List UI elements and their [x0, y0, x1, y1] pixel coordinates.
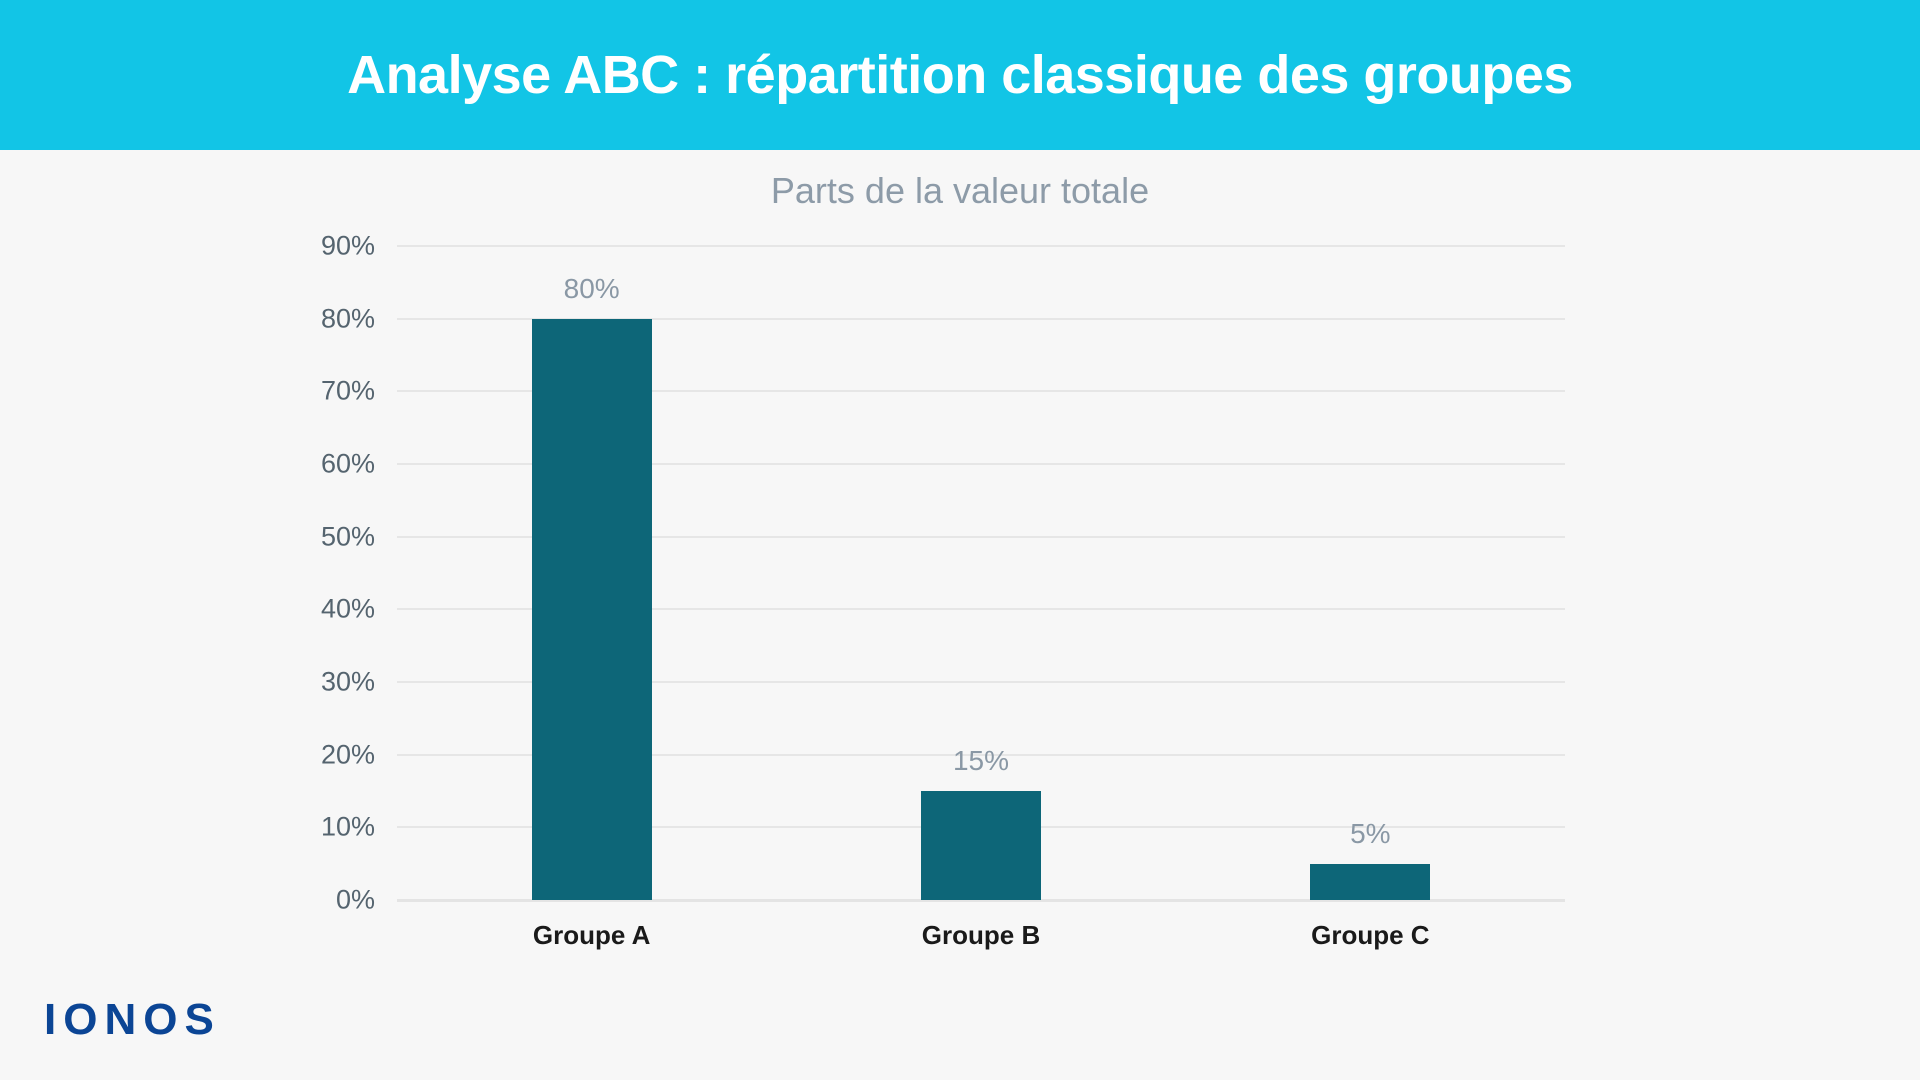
y-axis-tick-label: 10% — [321, 812, 375, 843]
page-title: Analyse ABC : répartition classique des … — [347, 44, 1573, 106]
bar-value-label: 5% — [1350, 818, 1390, 850]
bar-groupe-c[interactable] — [1310, 864, 1430, 900]
bar-groupe-a[interactable] — [532, 319, 652, 900]
plot-area: 80%15%5% — [397, 246, 1565, 900]
bar-value-label: 80% — [564, 273, 620, 305]
y-axis-tick-label: 90% — [321, 231, 375, 262]
ionos-logo: IONOS — [44, 995, 221, 1045]
header-band: Analyse ABC : répartition classique des … — [0, 0, 1920, 150]
x-axis-category-label: Groupe C — [1311, 920, 1429, 951]
gridline — [397, 245, 1565, 247]
bar-value-label: 15% — [953, 745, 1009, 777]
y-axis-labels: 90%80%70%60%50%40%30%20%10%0% — [0, 246, 375, 900]
bar-groupe-b[interactable] — [921, 791, 1041, 900]
y-axis-tick-label: 40% — [321, 594, 375, 625]
y-axis-tick-label: 70% — [321, 376, 375, 407]
x-axis-category-label: Groupe A — [533, 920, 650, 951]
y-axis-tick-label: 20% — [321, 739, 375, 770]
x-axis-category-label: Groupe B — [922, 920, 1040, 951]
y-axis-tick-label: 50% — [321, 521, 375, 552]
chart-title: Parts de la valeur totale — [0, 170, 1920, 212]
y-axis-tick-label: 80% — [321, 303, 375, 334]
chart-page: Analyse ABC : répartition classique des … — [0, 0, 1920, 1080]
y-axis-tick-label: 60% — [321, 449, 375, 480]
y-axis-tick-label: 30% — [321, 667, 375, 698]
y-axis-tick-label: 0% — [336, 885, 375, 916]
